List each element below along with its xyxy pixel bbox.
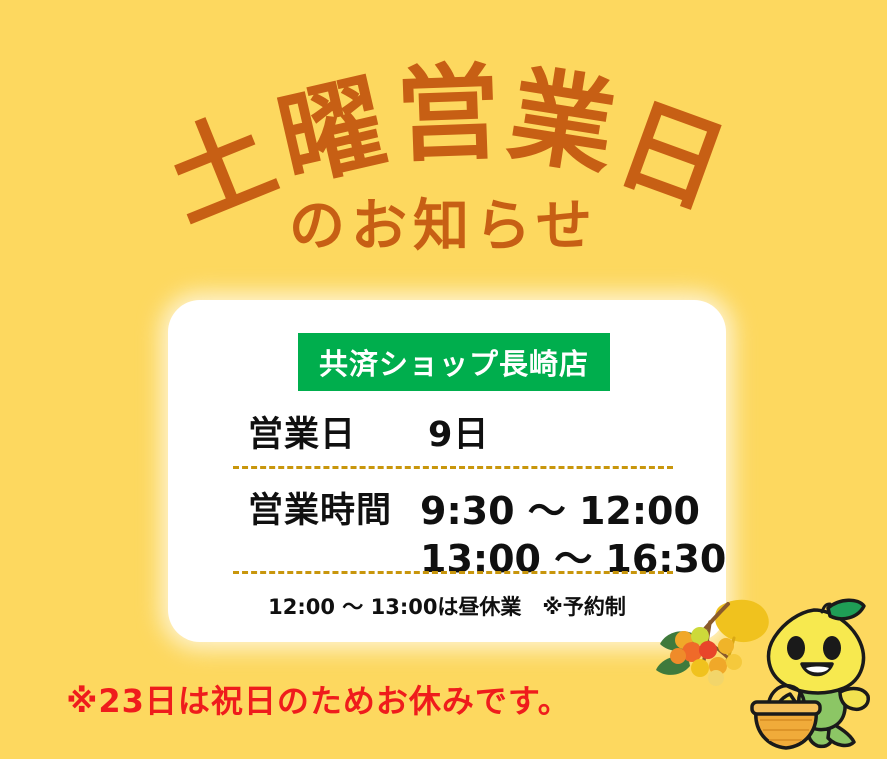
business-hours-line-1: 9:30 〜 12:00 [420,480,700,535]
business-day-row: 営業日 9日 [248,406,489,457]
pear-mascot-icon [744,596,884,759]
page-subtitle: のお知らせ [0,196,887,258]
business-hours-line-2: 13:00 〜 16:30 [420,528,726,583]
status-badge: 共済ショップ長崎店 [298,333,610,391]
poster-canvas: 土 曜 営 業 日 のお知らせ 共済ショップ長崎店 営業日 9日 営業時間 9:… [0,0,887,759]
headline-char-3: 営 [394,60,502,168]
divider-bottom [233,571,673,574]
headline-char-4: 業 [503,63,622,182]
shop-name-label: 共済ショップ長崎店 [319,341,589,383]
business-hours-label: 営業時間 [248,482,392,533]
lunch-break-note: 12:00 〜 13:00は昼休業 ※予約制 [168,591,726,621]
headline-char-2: 曜 [270,70,395,195]
divider-top [233,466,673,469]
